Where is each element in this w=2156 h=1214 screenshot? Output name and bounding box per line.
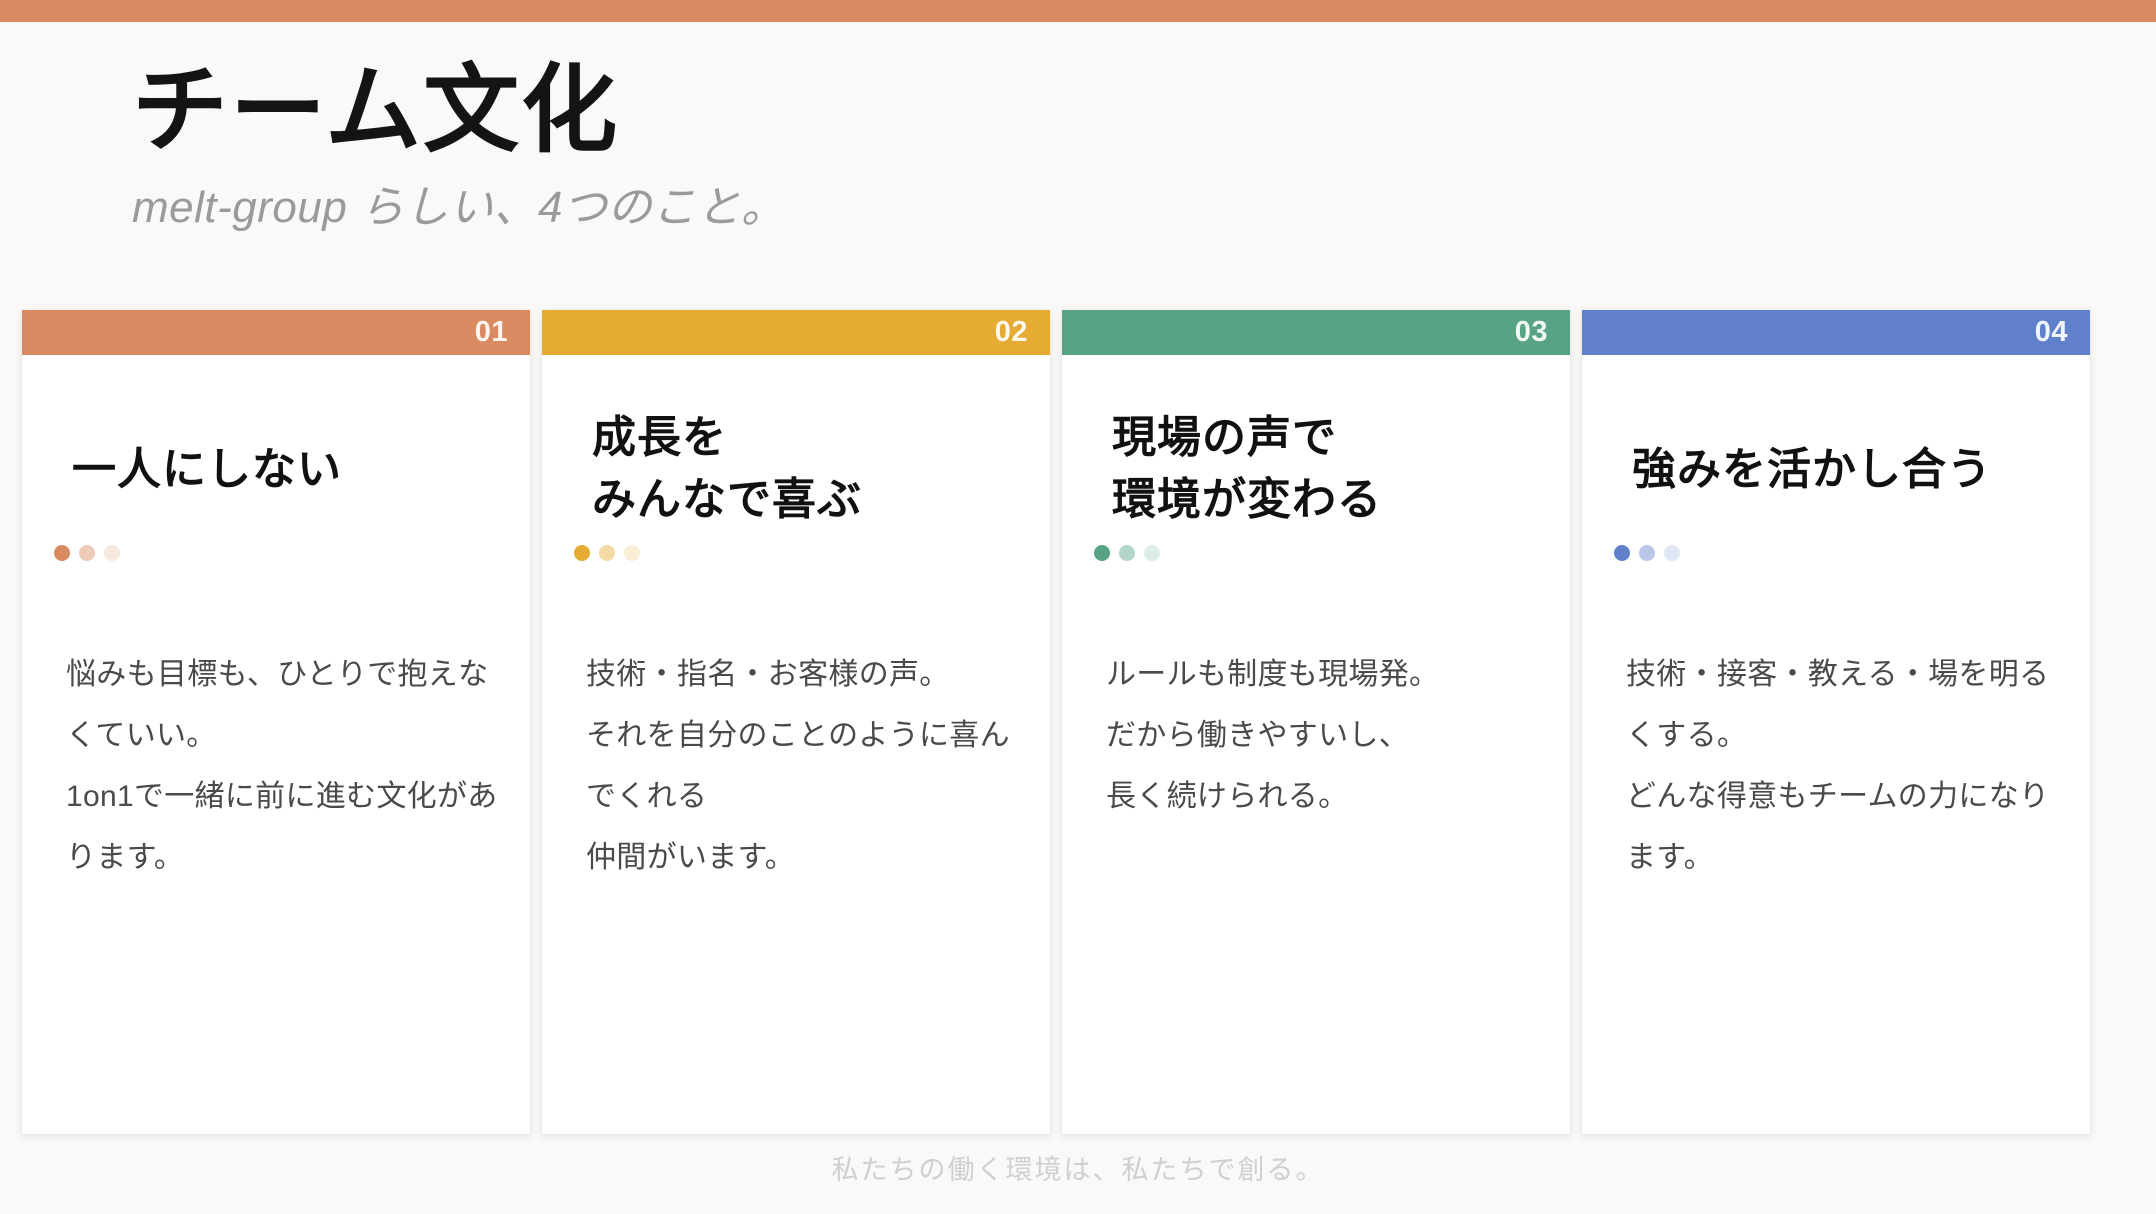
- culture-card[interactable]: 04強みを活かし合う技術・接客・教える・場を明るくする。 どんな得意もチームの力…: [1582, 310, 2090, 1134]
- card-number-badge: 02: [995, 318, 1028, 347]
- page-footer: 私たちの働く環境は、私たちで創る。: [0, 1148, 2156, 1187]
- dot-indicator-2: [79, 545, 95, 561]
- page-title: チーム文化: [132, 60, 2156, 162]
- dot-indicator-3: [624, 545, 640, 561]
- card-description: ルールも制度も現場発。 だから働きやすいし、 長く続けられる。: [1106, 645, 1540, 828]
- dot-indicator-1: [54, 545, 70, 561]
- card-body: 現場の声で 環境が変わるルールも制度も現場発。 だから働きやすいし、 長く続けら…: [1062, 355, 1570, 1134]
- dot-indicator-2: [1119, 545, 1135, 561]
- dot-indicator-3: [104, 545, 120, 561]
- dot-indicator-1: [574, 545, 590, 561]
- card-body: 成長を みんなで喜ぶ技術・指名・お客様の声。 それを自分のことのように喜んでくれ…: [542, 355, 1050, 1134]
- progress-dots: [1614, 545, 1680, 561]
- dot-indicator-2: [1639, 545, 1655, 561]
- card-header: 04: [1582, 310, 2090, 355]
- card-title: 強みを活かし合う: [1632, 439, 2060, 501]
- dot-indicator-3: [1144, 545, 1160, 561]
- dot-indicator-3: [1664, 545, 1680, 561]
- culture-card-list: 01一人にしない悩みも目標も、ひとりで抱えなくていい。 1on1で一緒に前に進む…: [22, 310, 2156, 1134]
- dot-indicator-1: [1094, 545, 1110, 561]
- card-number-badge: 01: [475, 318, 508, 347]
- card-title: 成長を みんなで喜ぶ: [592, 407, 1020, 532]
- card-number-badge: 03: [1515, 318, 1548, 347]
- culture-card[interactable]: 01一人にしない悩みも目標も、ひとりで抱えなくていい。 1on1で一緒に前に進む…: [22, 310, 530, 1134]
- card-title: 現場の声で 環境が変わる: [1112, 407, 1540, 532]
- dot-indicator-2: [599, 545, 615, 561]
- card-description: 技術・指名・お客様の声。 それを自分のことのように喜んでくれる 仲間がいます。: [586, 645, 1020, 889]
- top-accent-bar: [0, 0, 2156, 22]
- card-header: 03: [1062, 310, 1570, 355]
- card-body: 一人にしない悩みも目標も、ひとりで抱えなくていい。 1on1で一緒に前に進む文化…: [22, 355, 530, 1134]
- card-number-badge: 04: [2035, 318, 2068, 347]
- dot-indicator-1: [1614, 545, 1630, 561]
- card-body: 強みを活かし合う技術・接客・教える・場を明るくする。 どんな得意もチームの力にな…: [1582, 355, 2090, 1134]
- culture-card[interactable]: 02成長を みんなで喜ぶ技術・指名・お客様の声。 それを自分のことのように喜んで…: [542, 310, 1050, 1134]
- card-title: 一人にしない: [72, 439, 500, 501]
- card-description: 悩みも目標も、ひとりで抱えなくていい。 1on1で一緒に前に進む文化があります。: [66, 645, 500, 889]
- card-header: 02: [542, 310, 1050, 355]
- progress-dots: [1094, 545, 1160, 561]
- progress-dots: [574, 545, 640, 561]
- page-subtitle: melt-group らしい、4つのこと。: [132, 184, 2156, 232]
- page-header: チーム文化 melt-group らしい、4つのこと。: [0, 22, 2156, 232]
- card-description: 技術・接客・教える・場を明るくする。 どんな得意もチームの力になります。: [1626, 645, 2060, 889]
- card-header: 01: [22, 310, 530, 355]
- progress-dots: [54, 545, 120, 561]
- culture-card[interactable]: 03現場の声で 環境が変わるルールも制度も現場発。 だから働きやすいし、 長く続…: [1062, 310, 1570, 1134]
